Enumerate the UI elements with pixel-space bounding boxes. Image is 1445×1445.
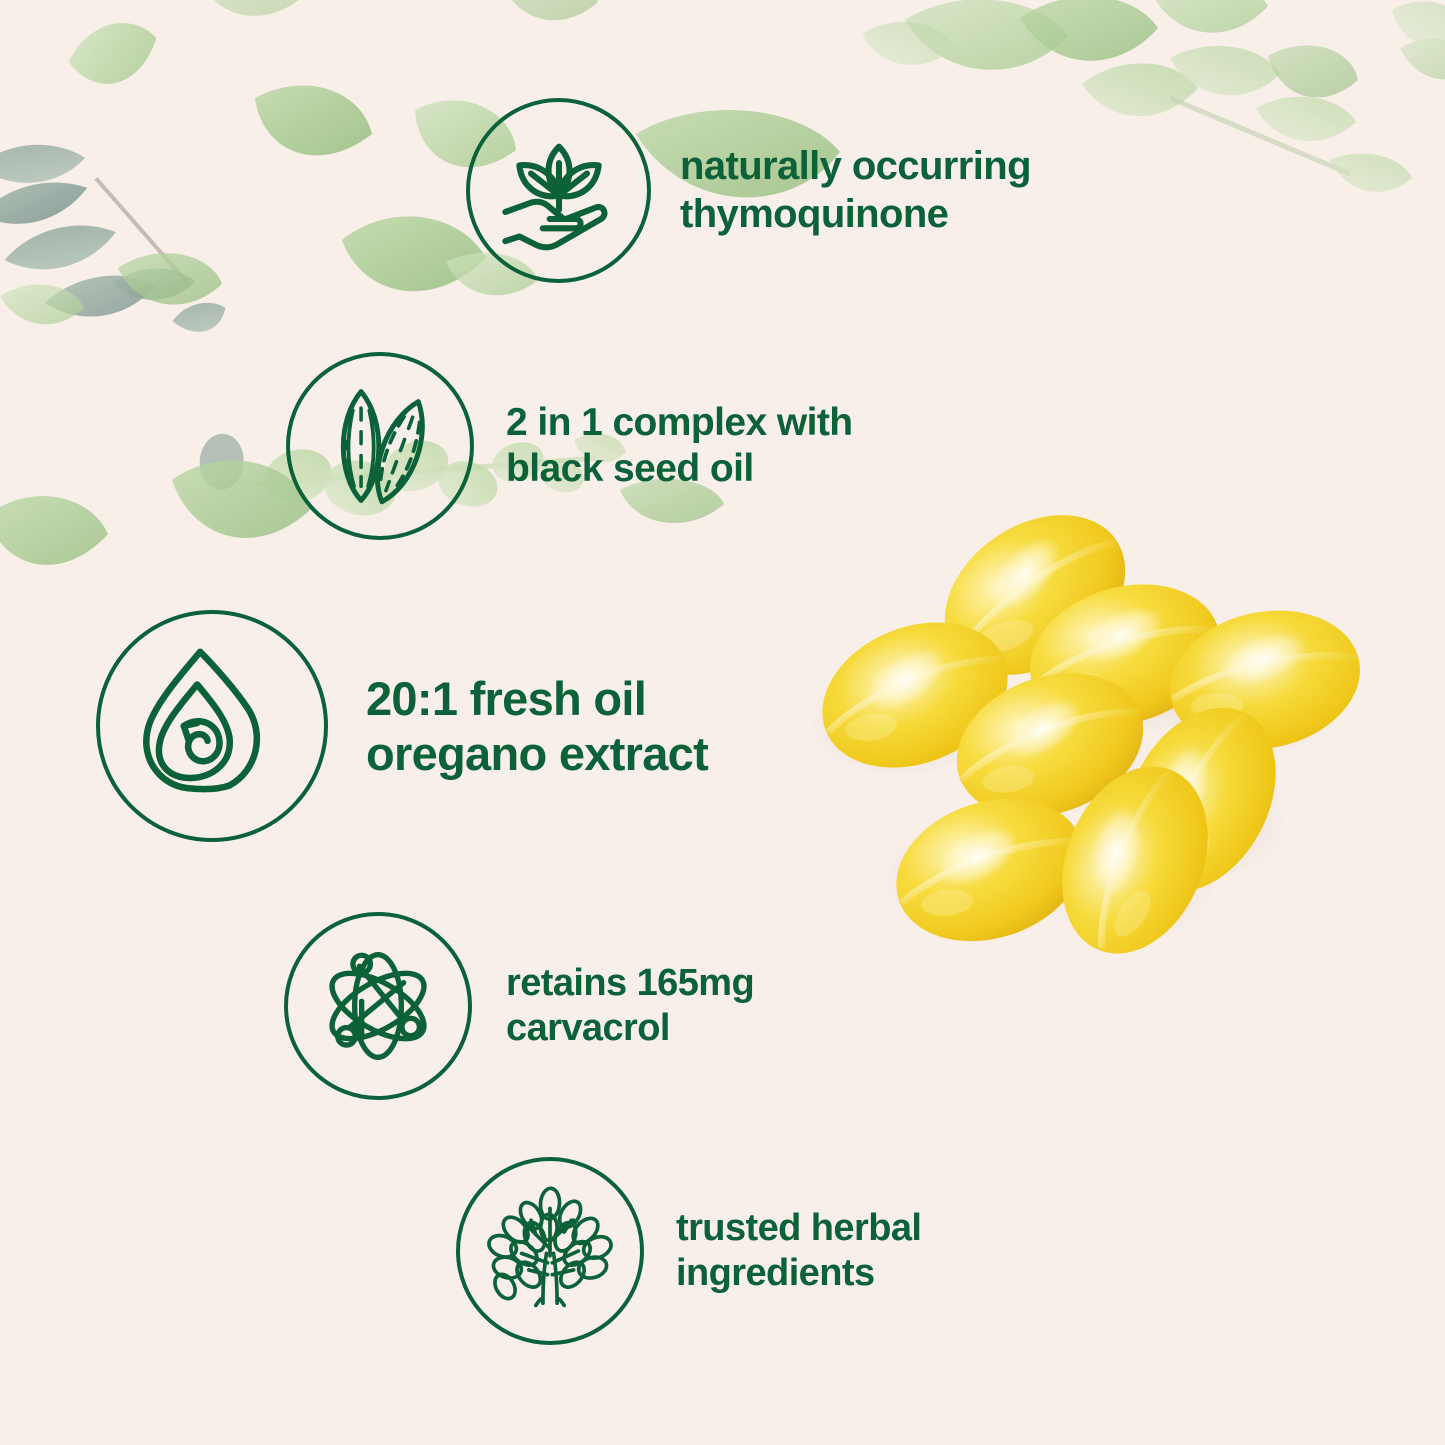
feature-row-naturally-occurring-thymoquinone: naturally occurring thymoquinone	[466, 98, 1031, 283]
feature-label-1: naturally occurring thymoquinone	[680, 143, 1031, 237]
feature-row-retains-carvacrol: retains 165mg carvacrol	[284, 912, 754, 1100]
herbal-tree-icon	[479, 1180, 621, 1322]
product-feature-infographic: naturally occurring thymoquinone	[0, 0, 1445, 1445]
softgel-capsule	[1036, 745, 1235, 976]
atom-molecule-icon	[308, 936, 448, 1076]
softgel-capsule	[915, 482, 1156, 708]
softgel-capsule	[801, 596, 1030, 794]
feature-badge-2	[286, 352, 474, 540]
feature-row-two-in-one-complex-black-seed-oil: 2 in 1 complex with black seed oil	[286, 352, 852, 540]
feature-label-2: 2 in 1 complex with black seed oil	[506, 400, 852, 492]
softgel-capsule	[878, 776, 1103, 965]
feature-badge-5	[456, 1157, 644, 1345]
feature-row-trusted-herbal-ingredients: trusted herbal ingredients	[456, 1157, 921, 1345]
hand-holding-sprout-icon	[489, 121, 629, 261]
softgel-capsule	[1094, 682, 1306, 919]
oil-droplet-spiral-icon	[123, 637, 301, 815]
softgel-capsule	[937, 648, 1164, 841]
feature-label-3: 20:1 fresh oil oregano extract	[366, 671, 708, 782]
feature-badge-1	[466, 98, 651, 283]
feature-label-5: trusted herbal ingredients	[676, 1206, 921, 1296]
softgel-capsule	[1157, 594, 1373, 767]
feature-row-fresh-oil-oregano-extract: 20:1 fresh oil oregano extract	[96, 610, 708, 842]
seed-pods-icon	[309, 375, 451, 517]
feature-badge-3	[96, 610, 328, 842]
softgel-capsule	[1013, 563, 1237, 747]
feature-badge-4	[284, 912, 472, 1100]
feature-label-4: retains 165mg carvacrol	[506, 961, 754, 1051]
